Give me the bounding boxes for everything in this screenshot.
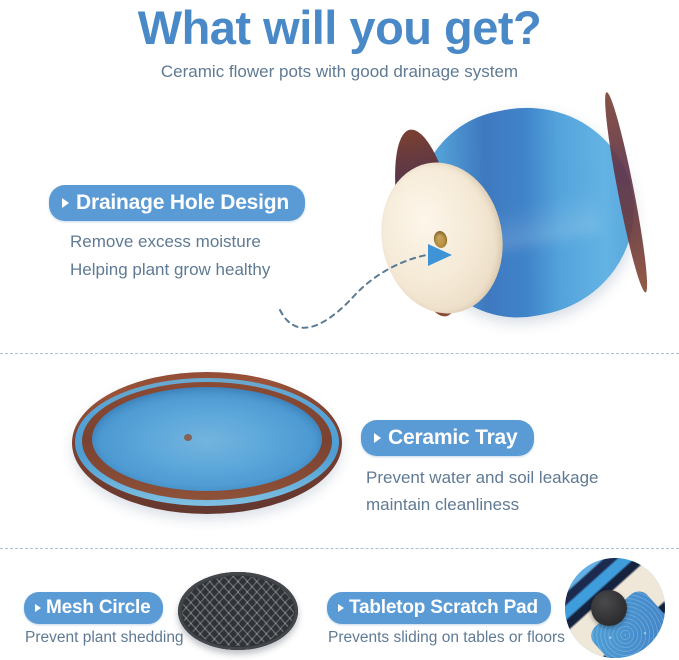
section-divider-1: [0, 353, 679, 354]
triangle-right-icon: [62, 198, 69, 208]
triangle-right-icon: [35, 604, 41, 612]
badge-label: Drainage Hole Design: [76, 190, 289, 215]
badge-label: Ceramic Tray: [388, 425, 518, 450]
pointer-arrow-icon: [280, 170, 530, 340]
page-subtitle: Ceramic flower pots with good drainage s…: [0, 60, 679, 84]
ceramic-pot-image: [360, 100, 660, 340]
mesh-disc-edge: [178, 572, 298, 650]
badge-label: Tabletop Scratch Pad: [349, 596, 538, 619]
felt-pad-dot: [591, 590, 627, 626]
desc-drainage-line-2: Helping plant grow healthy: [70, 256, 270, 284]
desc-tray-line-1: Prevent water and soil leakage: [366, 464, 598, 492]
pad-photo-circle: [565, 558, 665, 658]
desc-tray-line-2: maintain cleanliness: [366, 491, 519, 519]
badge-drainage-hole-design: Drainage Hole Design: [49, 185, 305, 221]
badge-ceramic-tray: Ceramic Tray: [361, 420, 534, 456]
triangle-right-icon: [338, 604, 344, 612]
tray-center-nub: [184, 434, 192, 441]
badge-label: Mesh Circle: [46, 596, 150, 619]
scratch-pad-image: [565, 558, 665, 658]
badge-mesh-circle: Mesh Circle: [24, 592, 163, 624]
desc-drainage-line-1: Remove excess moisture: [70, 228, 261, 256]
ceramic-tray-image: [72, 372, 342, 522]
infographic-page: What will you get? Ceramic flower pots w…: [0, 0, 679, 660]
mesh-circle-image: [178, 572, 298, 656]
tray-basin: [92, 387, 322, 491]
section-divider-2: [0, 548, 679, 549]
desc-mesh-line-1: Prevent plant shedding: [25, 627, 184, 649]
page-title: What will you get?: [0, 0, 679, 56]
badge-tabletop-scratch-pad: Tabletop Scratch Pad: [327, 592, 551, 624]
desc-pad-line-1: Prevents sliding on tables or floors: [328, 627, 565, 649]
triangle-right-icon: [374, 433, 381, 443]
